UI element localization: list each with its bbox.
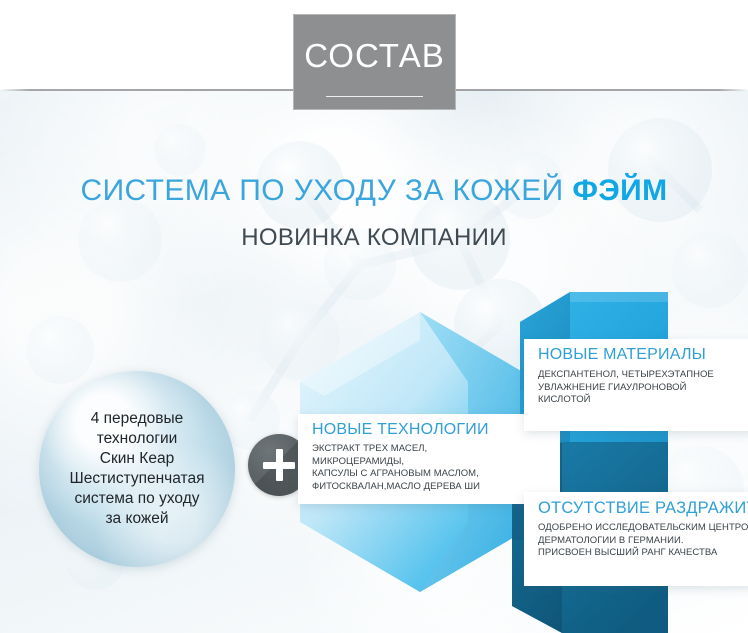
panel-new-technologies-body: ЭКСТРАКТ ТРЕХ МАСЕЛ, МИКРОЦЕРАМИДЫ, КАПС… xyxy=(312,443,560,493)
panel-new-technologies: НОВЫЕ ТЕХНОЛОГИИ ЭКСТРАКТ ТРЕХ МАСЕЛ, МИ… xyxy=(298,414,560,504)
panel-no-irritants-body: ОДОБРЕНО ИССЛЕДОВАТЕЛЬСКИМ ЦЕНТРОМ ДЕРМА… xyxy=(538,522,748,560)
panel-no-irritants-title: ОТСУТСТВИЕ РАЗДРАЖИТЕЛЕЙ xyxy=(538,499,748,518)
panel-no-irritants: ОТСУТСТВИЕ РАЗДРАЖИТЕЛЕЙ ОДОБРЕНО ИССЛЕД… xyxy=(524,492,748,586)
panel-new-materials-body: ДЕКСПАНТЕНОЛ, ЧЕТЫРЕХЭТАПНОЕ УВЛАЖНЕНИЕ … xyxy=(538,369,748,407)
panel-new-technologies-title: НОВЫЕ ТЕХНОЛОГИИ xyxy=(312,421,489,439)
panel-new-materials: НОВЫЕ МАТЕРИАЛЫ ДЕКСПАНТЕНОЛ, ЧЕТЫРЕХЭТА… xyxy=(524,339,748,431)
plus-icon-bar-vertical xyxy=(276,449,283,481)
panel-new-materials-title: НОВЫЕ МАТЕРИАЛЫ xyxy=(538,346,706,364)
infographic-page: СОСТАВ СИСТЕМА ПО УХОДУ ЗА КОЖЕЙ ФЭЙМ НО… xyxy=(0,0,748,633)
